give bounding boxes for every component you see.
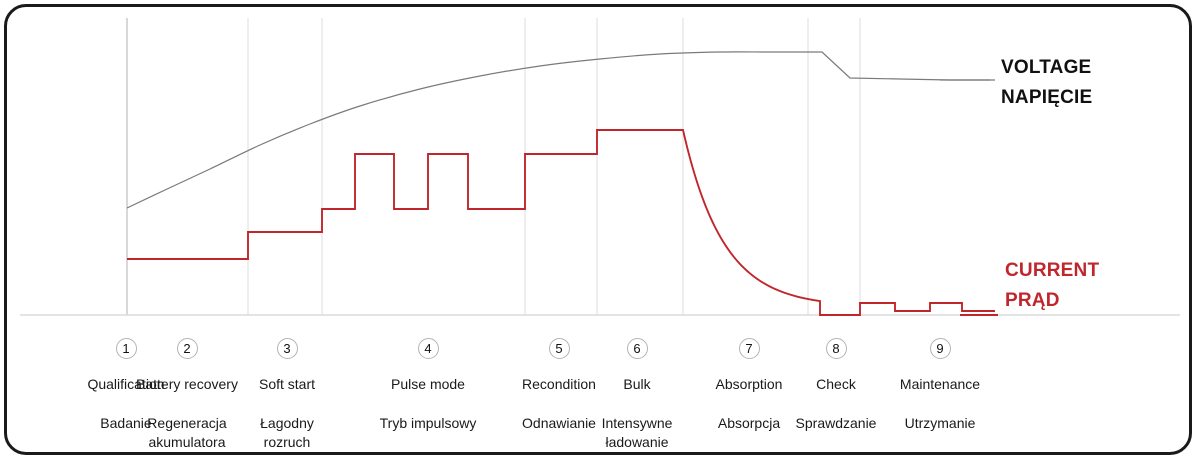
stage-label-pl-4: Tryb impulsowy bbox=[373, 414, 483, 433]
voltage-curve bbox=[127, 52, 990, 208]
stage-marker-5[interactable]: 5 bbox=[549, 338, 570, 359]
stage-label-en-9: Maintenance bbox=[884, 375, 996, 394]
current-legend-pl: PRĄD bbox=[1005, 290, 1099, 312]
stage-marker-6[interactable]: 6 bbox=[627, 338, 648, 359]
stage-marker-2[interactable]: 2 bbox=[177, 338, 198, 359]
voltage-legend-pl: NAPIĘCIE bbox=[1001, 87, 1092, 109]
stage-label-pl-6: Intensywne ładowanie bbox=[589, 414, 685, 452]
stage-marker-4[interactable]: 4 bbox=[418, 338, 439, 359]
stage-label-pl-2: Regeneracja akumulatora bbox=[133, 414, 241, 452]
voltage-legend-en: VOLTAGE bbox=[1001, 57, 1091, 78]
current-curve bbox=[127, 130, 995, 315]
stage-marker-3[interactable]: 3 bbox=[277, 338, 298, 359]
stage-label-pl-8: Sprawdzanie bbox=[782, 414, 890, 433]
stage-label-en-2: Battery recovery bbox=[133, 375, 241, 394]
stage-label-pl-9: Utrzymanie bbox=[884, 414, 996, 433]
voltage-legend: VOLTAGE NAPIĘCIE bbox=[1001, 57, 1092, 109]
stage-marker-1[interactable]: 1 bbox=[116, 338, 137, 359]
stage-marker-7[interactable]: 7 bbox=[739, 338, 760, 359]
gridlines-group bbox=[127, 18, 860, 315]
stage-label-en-3: Soft start bbox=[244, 375, 330, 394]
charger-stage-diagram: VOLTAGE NAPIĘCIE CURRENT PRĄD 123456789 … bbox=[0, 0, 1200, 463]
stage-label-pl-3: Łagodny rozruch bbox=[244, 414, 330, 452]
stage-marker-9[interactable]: 9 bbox=[930, 338, 951, 359]
current-legend: CURRENT PRĄD bbox=[1005, 260, 1099, 312]
stage-label-en-8: Check bbox=[782, 375, 890, 394]
current-legend-en: CURRENT bbox=[1005, 260, 1099, 281]
stage-label-en-4: Pulse mode bbox=[373, 375, 483, 394]
stage-label-en-6: Bulk bbox=[589, 375, 685, 394]
stage-marker-8[interactable]: 8 bbox=[826, 338, 847, 359]
